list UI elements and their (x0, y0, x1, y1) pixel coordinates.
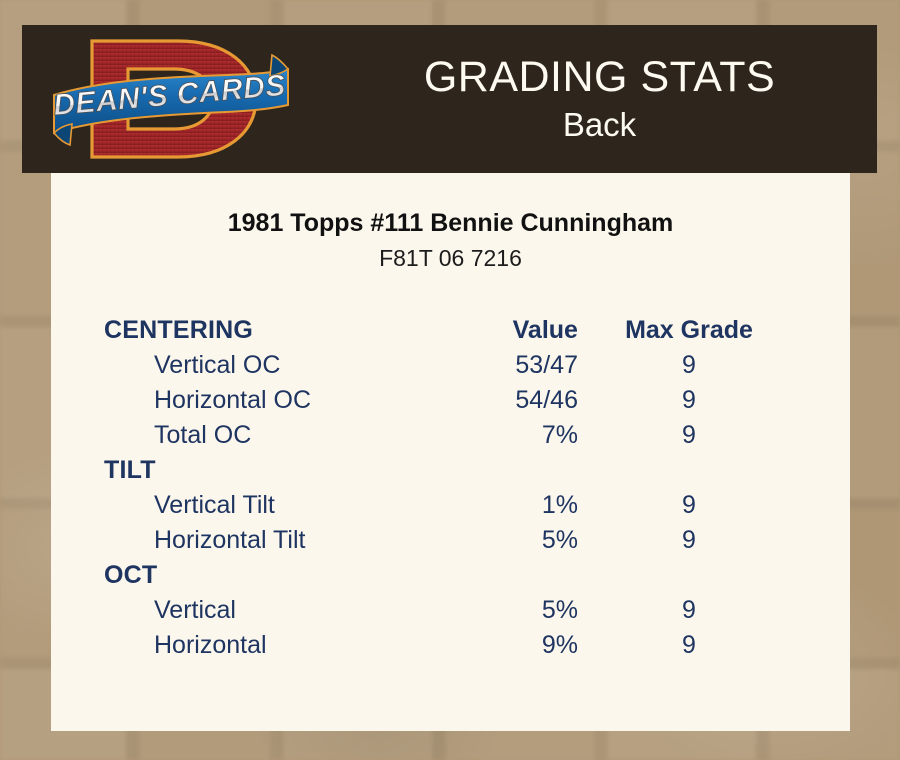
section-header-row: OCT (51, 558, 850, 593)
stat-value: 54/46 (439, 383, 605, 418)
stat-max-grade: 9 (605, 348, 850, 383)
page-subtitle: Back (563, 104, 636, 146)
table-row: Vertical Tilt1%9 (51, 488, 850, 523)
stat-label: Horizontal OC (51, 383, 439, 418)
stat-value: 5% (439, 523, 605, 558)
stat-label: Total OC (51, 418, 439, 453)
grading-stats-table: CENTERINGValueMax GradeVertical OC53/479… (51, 313, 850, 663)
section-header-row: CENTERINGValueMax Grade (51, 313, 850, 348)
header-title-group: GRADING STATS Back (322, 25, 877, 173)
stat-max-grade: 9 (605, 488, 850, 523)
stat-label: Horizontal Tilt (51, 523, 439, 558)
grading-stats-body: CENTERINGValueMax GradeVertical OC53/479… (51, 313, 850, 663)
stat-max-grade: 9 (605, 593, 850, 628)
table-row: Horizontal OC54/469 (51, 383, 850, 418)
table-row: Total OC7%9 (51, 418, 850, 453)
card-serial-number: F81T 06 7216 (51, 238, 850, 272)
stat-max-grade: 9 (605, 628, 850, 663)
stat-value: 7% (439, 418, 605, 453)
stat-max-grade: 9 (605, 383, 850, 418)
section-name: TILT (51, 453, 439, 488)
table-row: Horizontal9%9 (51, 628, 850, 663)
column-header-value: Value (439, 313, 605, 348)
page-title: GRADING STATS (424, 52, 775, 102)
stat-max-grade: 9 (605, 418, 850, 453)
column-header-grade (605, 453, 850, 488)
table-row: Vertical5%9 (51, 593, 850, 628)
stat-label: Vertical (51, 593, 439, 628)
column-header-value (439, 453, 605, 488)
column-header-grade (605, 558, 850, 593)
stat-value: 5% (439, 593, 605, 628)
column-header-value (439, 558, 605, 593)
card-title: 1981 Topps #111 Bennie Cunningham (51, 173, 850, 238)
stat-max-grade: 9 (605, 523, 850, 558)
section-name: OCT (51, 558, 439, 593)
stat-value: 1% (439, 488, 605, 523)
header-bar: DEAN'S CARDS GRADING STATS Back (22, 25, 877, 173)
content-panel: 1981 Topps #111 Bennie Cunningham F81T 0… (51, 173, 850, 731)
stat-value: 9% (439, 628, 605, 663)
table-row: Horizontal Tilt5%9 (51, 523, 850, 558)
column-header-grade: Max Grade (605, 313, 850, 348)
stat-value: 53/47 (439, 348, 605, 383)
stat-label: Vertical Tilt (51, 488, 439, 523)
stat-label: Vertical OC (51, 348, 439, 383)
table-row: Vertical OC53/479 (51, 348, 850, 383)
stat-label: Horizontal (51, 628, 439, 663)
section-header-row: TILT (51, 453, 850, 488)
deans-cards-logo[interactable]: DEAN'S CARDS (50, 29, 298, 169)
section-name: CENTERING (51, 313, 439, 348)
